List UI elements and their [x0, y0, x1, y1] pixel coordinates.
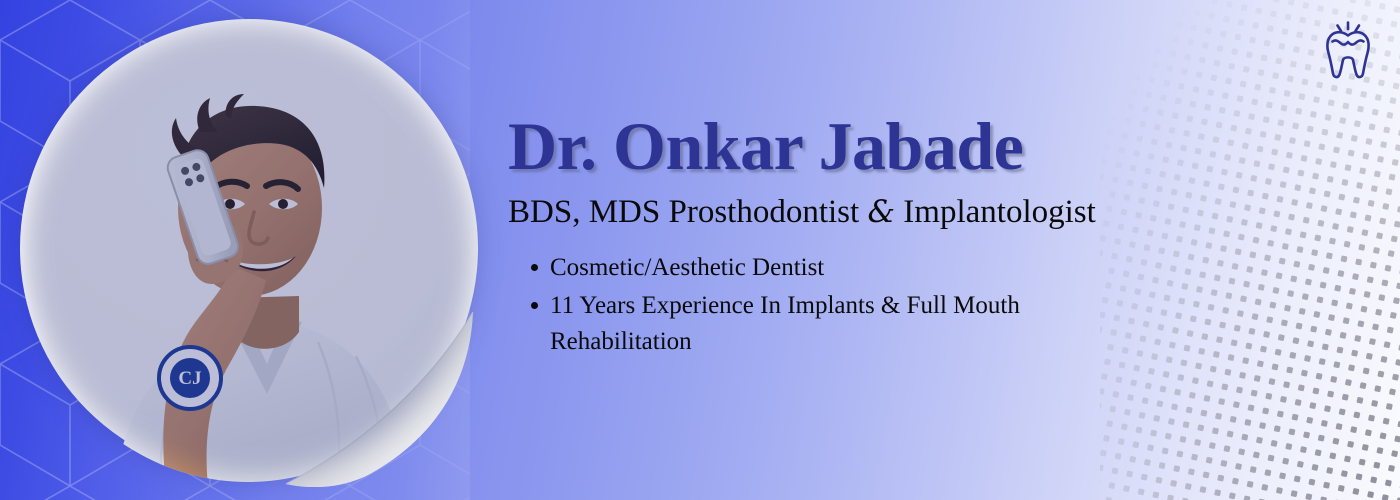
doctor-credentials: BDS, MDS Prosthodontist & Implantologist: [508, 194, 1208, 232]
credentials-prefix: BDS, MDS Prosthodontist: [508, 194, 867, 230]
specialties-list: Cosmetic/Aesthetic Dentist 11 Years Expe…: [508, 250, 1150, 360]
banner-text-content: Dr. Onkar Jabade BDS, MDS Prosthodontist…: [508, 112, 1208, 362]
dentist-profile-banner: CJ Dr. Onkar Jabade BDS, MDS Prosthodont…: [0, 0, 1400, 500]
tooth-sparkle-icon: [1318, 18, 1378, 80]
doctor-photo-sticker: CJ: [18, 12, 483, 487]
sticker-drop-shadow: [24, 20, 474, 478]
list-item: 11 Years Experience In Implants & Full M…: [550, 288, 1150, 360]
credentials-suffix: Implantologist: [895, 194, 1096, 230]
list-item: Cosmetic/Aesthetic Dentist: [550, 250, 1150, 286]
ampersand-glyph: &: [867, 194, 895, 230]
doctor-name: Dr. Onkar Jabade: [508, 112, 1208, 180]
